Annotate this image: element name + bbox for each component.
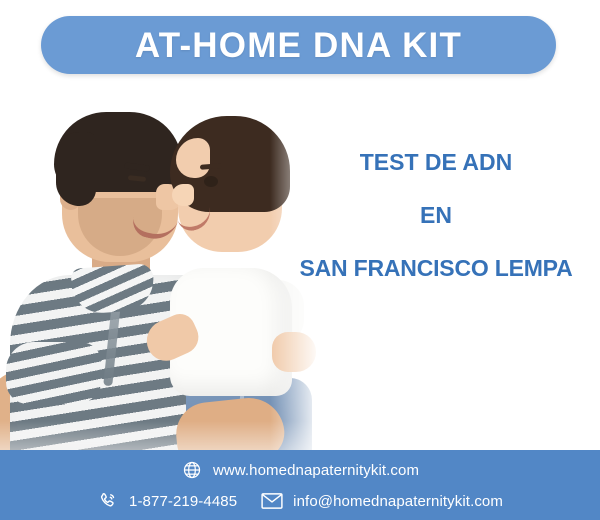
phone-item[interactable]: 1-877-219-4485 bbox=[97, 490, 237, 512]
email-item[interactable]: info@homednapaternitykit.com bbox=[261, 490, 503, 512]
phone-icon bbox=[97, 490, 119, 512]
photo-canvas bbox=[0, 80, 330, 455]
footer-row-phone-email: 1-877-219-4485 info@homednapaternitykit.… bbox=[0, 486, 600, 516]
dna-kit-banner: AT-HOME DNA KIT bbox=[0, 0, 600, 520]
child-nose bbox=[172, 184, 194, 206]
email-text: info@homednapaternitykit.com bbox=[293, 493, 503, 510]
phone-text: 1-877-219-4485 bbox=[129, 493, 237, 510]
headline-block: TEST DE ADN EN SAN FRANCISCO LEMPA bbox=[286, 150, 586, 280]
globe-icon bbox=[181, 459, 203, 481]
child-forehead bbox=[176, 138, 210, 178]
envelope-icon bbox=[261, 490, 283, 512]
man-sleeve bbox=[6, 342, 102, 404]
contact-footer: www.homednapaternitykit.com 1-877-219-44… bbox=[0, 450, 600, 520]
man-sideburn bbox=[56, 132, 96, 206]
footer-row-website: www.homednapaternitykit.com bbox=[0, 455, 600, 485]
headline-line-en: EN bbox=[286, 203, 586, 227]
website-text: www.homednapaternitykit.com bbox=[213, 462, 419, 479]
website-item[interactable]: www.homednapaternitykit.com bbox=[181, 459, 419, 481]
headline-line-test-de-adn: TEST DE ADN bbox=[286, 150, 586, 174]
father-and-child-photo bbox=[0, 80, 330, 455]
header-pill: AT-HOME DNA KIT bbox=[41, 16, 556, 74]
child-eye bbox=[204, 176, 218, 187]
headline-line-location: SAN FRANCISCO LEMPA bbox=[286, 256, 586, 280]
header-title: AT-HOME DNA KIT bbox=[135, 28, 462, 63]
